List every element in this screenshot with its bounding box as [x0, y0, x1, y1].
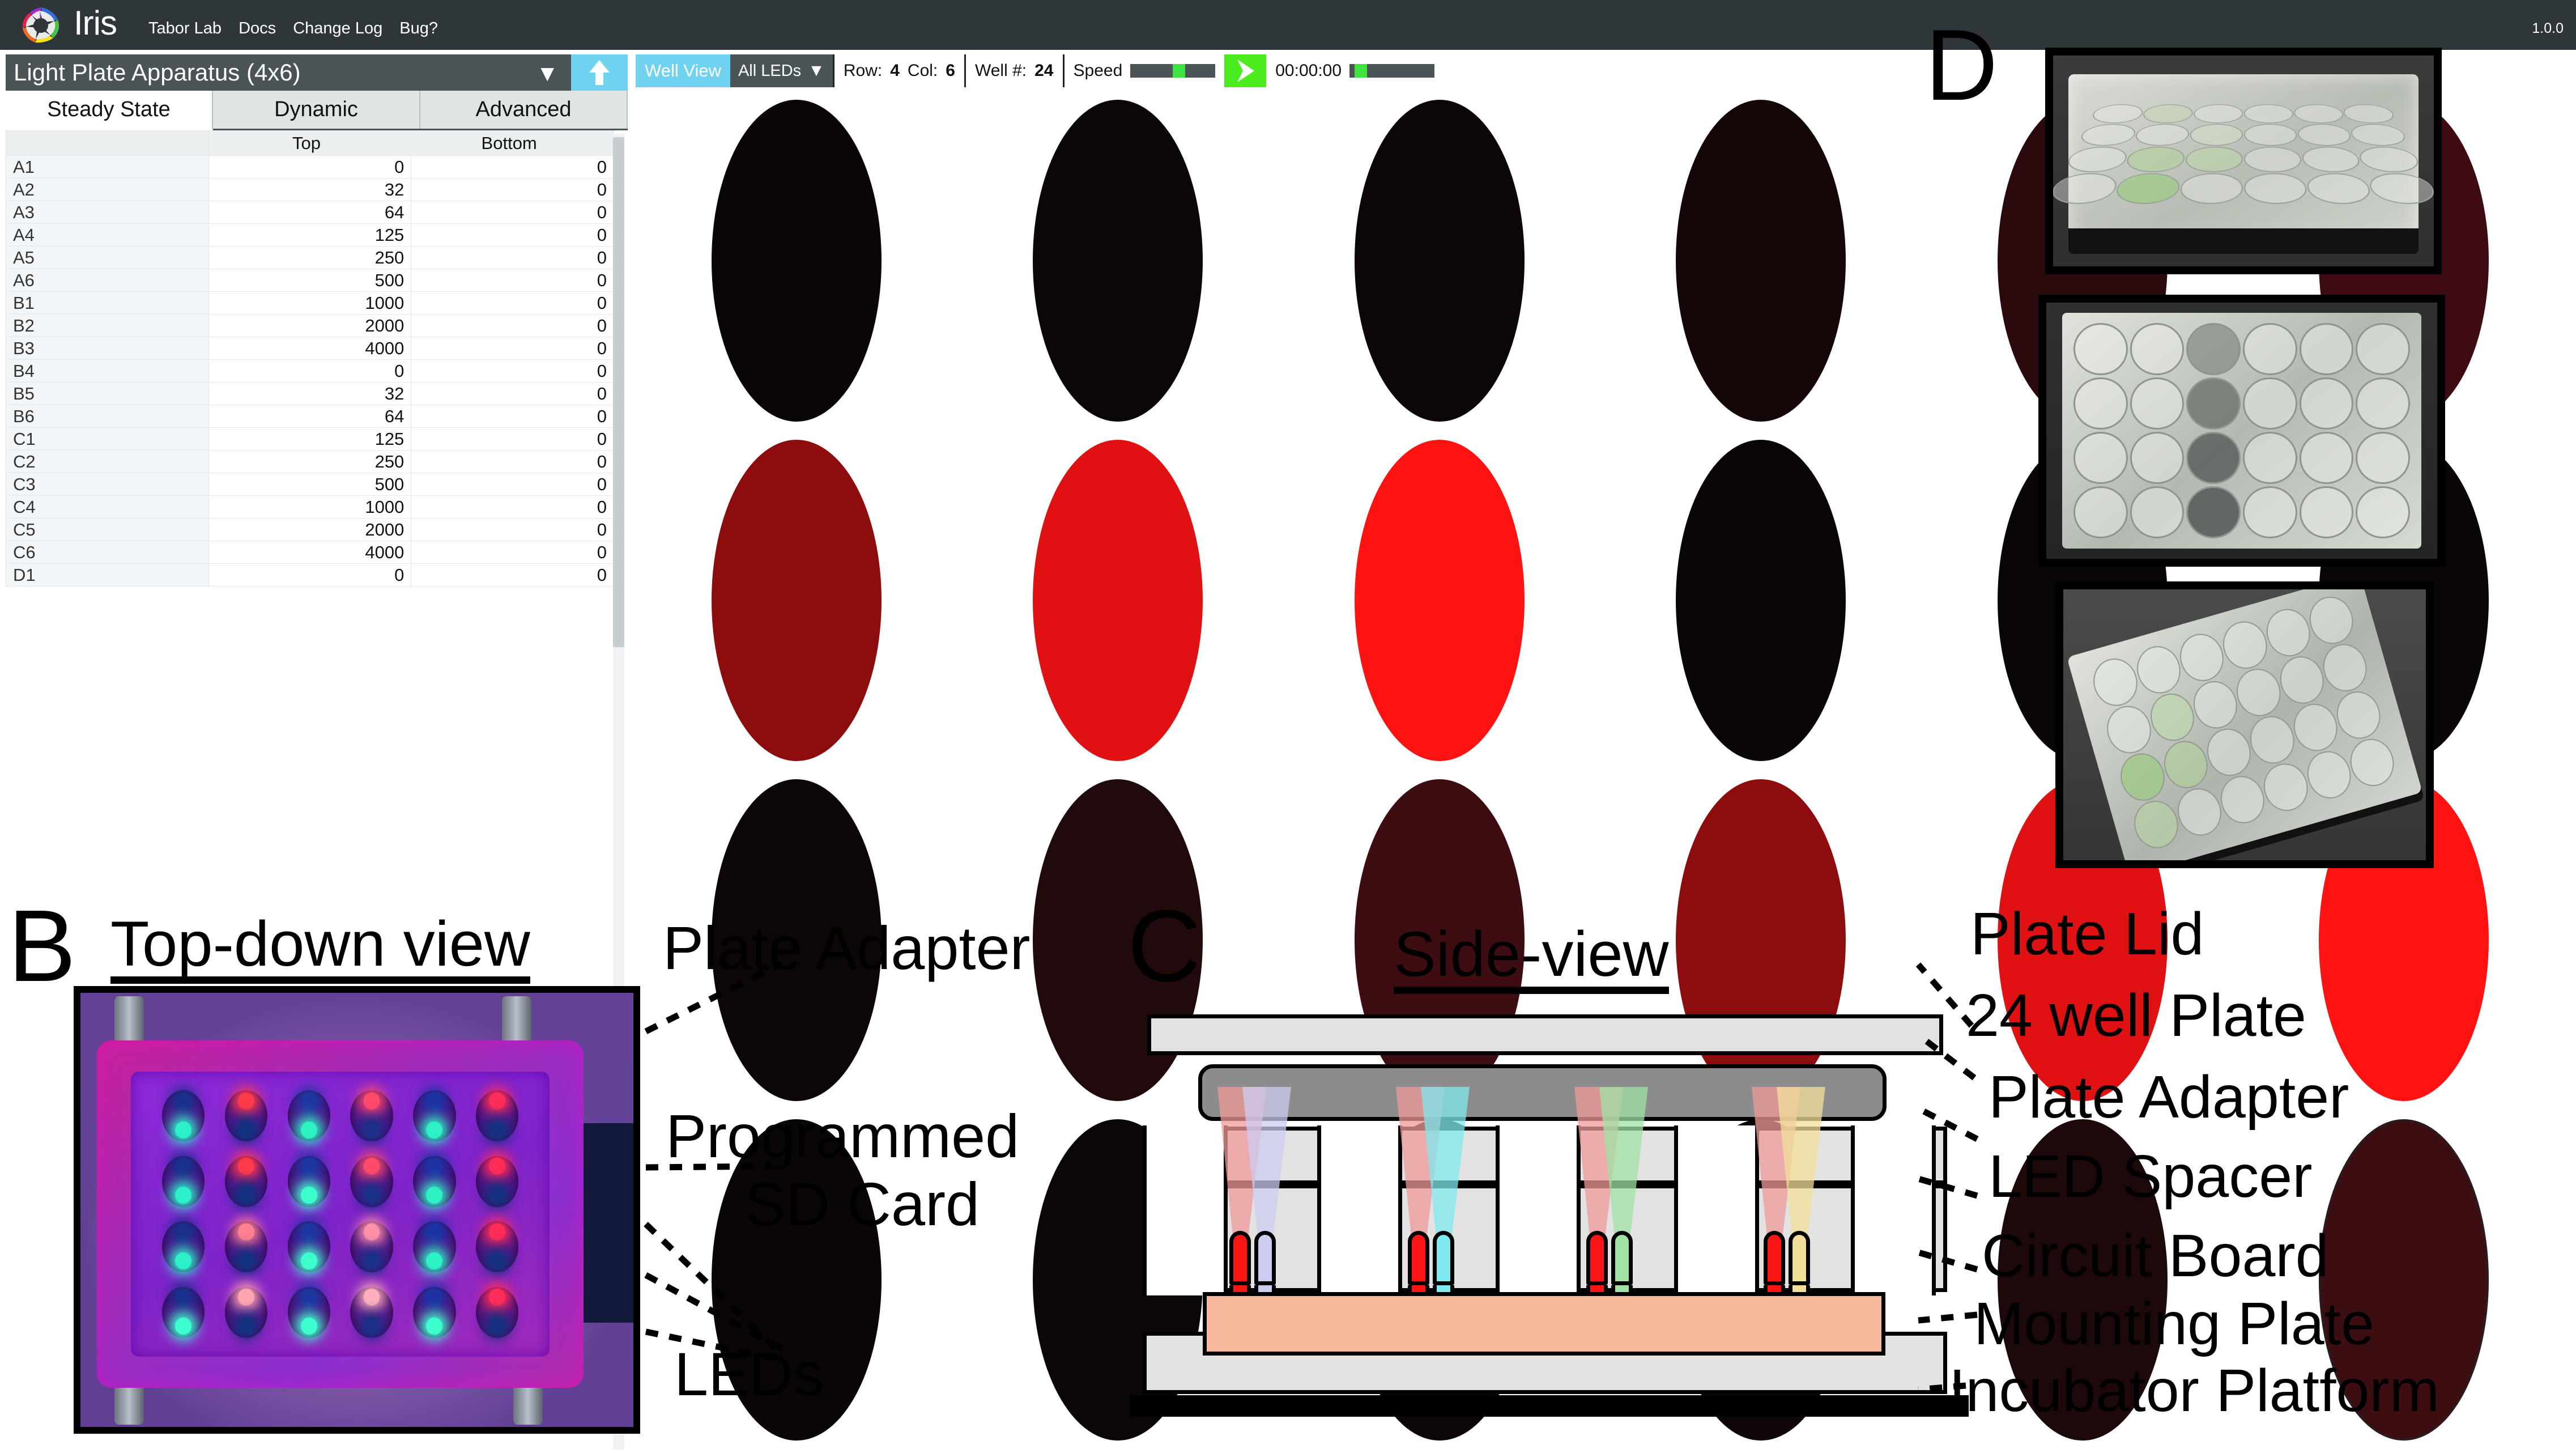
iris-aperture-icon [12, 7, 69, 44]
row-index: C5 [6, 519, 209, 541]
cell-top[interactable]: 2000 [208, 519, 411, 541]
well-view-title: Well View [636, 54, 730, 87]
well-label: Well #: [975, 61, 1027, 80]
cell-bottom[interactable]: 0 [411, 519, 614, 541]
adapter-wall [1674, 1125, 1759, 1295]
nav-item-tabor-lab[interactable]: Tabor Lab [148, 19, 222, 37]
well-values-table: Top Bottom A100A2320A3640A41250A52500A65… [6, 130, 614, 587]
cell-bottom[interactable]: 0 [411, 269, 614, 292]
adapter-wall [1496, 1125, 1581, 1295]
table-row[interactable]: A41250 [6, 224, 614, 247]
led-top [364, 1093, 380, 1110]
table-row[interactable]: A100 [6, 156, 614, 179]
nav-item-docs[interactable]: Docs [239, 19, 276, 37]
lpa-led-well [215, 1280, 278, 1345]
well-cell[interactable] [1279, 91, 1600, 431]
lpa-led-well [340, 1280, 403, 1345]
led-top [301, 1223, 317, 1240]
scrollbar-thumb[interactable] [613, 137, 624, 647]
lpa-led-well [403, 1280, 466, 1345]
tab-steady-state[interactable]: Steady State [6, 91, 213, 130]
led-top [426, 1223, 442, 1240]
cell-top[interactable]: 1000 [208, 292, 411, 315]
cell-bottom[interactable]: 0 [411, 405, 614, 428]
led-bulb [1229, 1231, 1251, 1285]
led-top [489, 1093, 505, 1110]
col-head-top: Top [208, 131, 411, 156]
well-plate-image [2053, 56, 2434, 266]
app-navbar: Iris Tabor Lab Docs Change Log Bug? 1.0.… [0, 0, 2576, 50]
led-bottom [175, 1187, 191, 1204]
lpa-led-well [215, 1149, 278, 1214]
panel-c-label-mounting-plate: Mounting Plate [1974, 1293, 2374, 1354]
speed-slider[interactable] [1130, 64, 1215, 78]
led-bottom [489, 1187, 505, 1204]
row-index: A5 [6, 247, 209, 269]
speed-slider-marker[interactable] [1173, 64, 1185, 78]
lpa-led-well [340, 1214, 403, 1280]
led-top [301, 1289, 317, 1306]
chevron-down-icon[interactable]: ▼ [536, 61, 559, 87]
lpa-led-well [278, 1214, 340, 1280]
well-a1[interactable] [712, 100, 882, 422]
row-index: B1 [6, 292, 209, 315]
panel-c-letter: C [1127, 895, 1201, 997]
time-slider[interactable] [1349, 64, 1434, 78]
led-bottom [175, 1252, 191, 1269]
cell-top[interactable]: 250 [208, 247, 411, 269]
cell-bottom[interactable]: 0 [411, 473, 614, 496]
adapter-wall [1317, 1125, 1402, 1295]
play-icon [1234, 58, 1257, 84]
elapsed-time: 00:00:00 [1275, 61, 1342, 80]
row-index: B5 [6, 383, 209, 405]
mounting-screw [114, 996, 144, 1047]
lpa-adapter-cavity [131, 1072, 550, 1356]
row-index: B4 [6, 360, 209, 383]
table-row[interactable]: B400 [6, 360, 614, 383]
row-index: A3 [6, 201, 209, 224]
cell-bottom[interactable]: 0 [411, 451, 614, 473]
lpa-led-grid [152, 1083, 529, 1345]
cell-bottom[interactable]: 0 [411, 360, 614, 383]
row-index: A1 [6, 156, 209, 179]
lpa-led-well [215, 1214, 278, 1280]
col-head-bottom: Bottom [411, 131, 614, 156]
speed-control[interactable]: Speed [1063, 54, 1225, 87]
cell-top[interactable]: 0 [208, 360, 411, 383]
tab-advanced[interactable]: Advanced [420, 91, 628, 129]
well-b4[interactable] [1676, 440, 1846, 762]
cell-top[interactable]: 125 [208, 428, 411, 451]
panel-c-label-plate-lid: Plate Lid [1970, 903, 2204, 965]
cell-top[interactable]: 250 [208, 451, 411, 473]
table-header-row: Top Bottom [6, 131, 614, 156]
diagram-24-well-plate [1198, 1064, 1887, 1121]
cell-bottom[interactable]: 0 [411, 337, 614, 360]
table-row[interactable]: C410000 [6, 496, 614, 519]
cell-bottom[interactable]: 0 [411, 247, 614, 269]
well-value: 24 [1034, 61, 1053, 80]
diagram-plate-lid [1147, 1014, 1943, 1055]
led-bottom [489, 1252, 505, 1269]
panel-b-label-programmed: Programmed [666, 1105, 1019, 1167]
panel-b-label-sd-card: SD Card [745, 1173, 980, 1235]
led-bottom [238, 1121, 254, 1138]
cell-bottom[interactable]: 0 [411, 315, 614, 337]
well-b1[interactable] [712, 440, 882, 762]
device-name: Light Plate Apparatus (4x6) [14, 59, 301, 86]
table-row[interactable]: A3640 [6, 201, 614, 224]
table-row[interactable]: A52500 [6, 247, 614, 269]
nav-item-bug[interactable]: Bug? [399, 19, 438, 37]
lpa-led-well [466, 1214, 529, 1280]
plate-photo-top-down [2038, 295, 2445, 567]
table-row[interactable]: C640000 [6, 541, 614, 564]
side-view-diagram [1130, 1014, 1969, 1411]
led-bulb [1764, 1231, 1785, 1285]
time-slider-marker[interactable] [1355, 64, 1367, 78]
led-top [489, 1223, 505, 1240]
row-index: C2 [6, 451, 209, 473]
row-index: B3 [6, 337, 209, 360]
diagram-circuit-board [1203, 1292, 1885, 1356]
led-bottom [489, 1121, 505, 1138]
cell-top[interactable]: 64 [208, 201, 411, 224]
lpa-led-well [152, 1149, 215, 1214]
row-index: A4 [6, 224, 209, 247]
top-down-photo [74, 986, 640, 1434]
cell-bottom[interactable]: 0 [411, 224, 614, 247]
led-bottom [238, 1252, 254, 1269]
panel-c-label-24-well-plate: 24 well Plate [1966, 985, 2306, 1046]
table-row[interactable]: B5320 [6, 383, 614, 405]
cell-bottom[interactable]: 0 [411, 541, 614, 564]
well-b3[interactable] [1355, 440, 1525, 762]
lpa-led-well [152, 1083, 215, 1149]
cell-top[interactable]: 125 [208, 224, 411, 247]
lpa-led-well [152, 1280, 215, 1345]
cell-top[interactable]: 500 [208, 473, 411, 496]
led-top [301, 1158, 317, 1175]
nav-item-change-log[interactable]: Change Log [293, 19, 382, 37]
led-bottom [301, 1252, 317, 1269]
well-count-readout: Well #: 24 [964, 54, 1063, 87]
panel-c-title: Side-view [1394, 923, 1669, 986]
row-value: 4 [890, 61, 900, 80]
led-top [364, 1223, 380, 1240]
led-top [238, 1158, 254, 1175]
cell-top[interactable]: 500 [208, 269, 411, 292]
led-top [238, 1093, 254, 1110]
well-a4[interactable] [1676, 100, 1846, 422]
led-bottom [238, 1318, 254, 1335]
table-row[interactable]: B110000 [6, 292, 614, 315]
led-bulb [1586, 1231, 1608, 1285]
led-select[interactable]: All LEDs ▼ [730, 54, 833, 87]
cell-top[interactable]: 64 [208, 405, 411, 428]
well-a3[interactable] [1355, 100, 1525, 422]
panel-d-letter: D [1925, 15, 1998, 116]
lpa-led-well [403, 1083, 466, 1149]
well-a2[interactable] [1033, 100, 1203, 422]
upload-arrow-icon [587, 59, 612, 86]
row-index: A6 [6, 269, 209, 292]
well-cell[interactable] [1600, 431, 1922, 771]
led-bottom [301, 1318, 317, 1335]
cell-bottom[interactable]: 0 [411, 201, 614, 224]
table-body: A100A2320A3640A41250A52500A65000B110000B… [6, 156, 614, 587]
led-bottom [238, 1187, 254, 1204]
row-index: D1 [6, 564, 209, 587]
lpa-led-well [340, 1083, 403, 1149]
row-index: B6 [6, 405, 209, 428]
cell-top[interactable]: 2000 [208, 315, 411, 337]
led-bottom [426, 1252, 442, 1269]
cell-top[interactable]: 4000 [208, 337, 411, 360]
panel-b-label-leds: LEDs [674, 1343, 824, 1405]
row-index: A2 [6, 179, 209, 201]
led-bottom [364, 1121, 380, 1138]
cell-top[interactable]: 0 [208, 564, 411, 587]
lpa-led-well [278, 1280, 340, 1345]
row-label: Row: [844, 61, 882, 80]
table-row[interactable]: D100 [6, 564, 614, 587]
well-cell[interactable] [636, 431, 957, 771]
cell-bottom[interactable]: 0 [411, 564, 614, 587]
cell-bottom[interactable]: 0 [411, 179, 614, 201]
diagram-incubator-platform [1130, 1395, 1969, 1417]
lpa-led-well [466, 1083, 529, 1149]
adapter-wall [1143, 1125, 1228, 1295]
cell-top[interactable]: 4000 [208, 541, 411, 564]
lpa-led-well [466, 1149, 529, 1214]
cell-top[interactable]: 32 [208, 179, 411, 201]
well-cell[interactable] [636, 91, 957, 431]
led-select-value: All LEDs [738, 62, 801, 80]
row-index: C4 [6, 496, 209, 519]
well-plate-image [2046, 303, 2437, 559]
table-row[interactable]: B220000 [6, 315, 614, 337]
lpa-led-well [340, 1149, 403, 1214]
led-top [238, 1223, 254, 1240]
lpa-led-well [403, 1149, 466, 1214]
panel-b-letter: B [8, 895, 76, 997]
led-bulb [1789, 1231, 1810, 1285]
led-top [175, 1223, 191, 1240]
upload-button[interactable] [571, 54, 628, 91]
panel-c-label-led-spacer: LED Spacer [1989, 1146, 2313, 1207]
timeline-control[interactable]: 00:00:00 [1266, 54, 1440, 87]
well-b2[interactable] [1033, 440, 1203, 762]
cell-bottom[interactable]: 0 [411, 383, 614, 405]
app-nav-links: Tabor Lab Docs Change Log Bug? [148, 19, 450, 38]
led-bottom [426, 1121, 442, 1138]
led-top [426, 1093, 442, 1110]
lpa-led-well [278, 1083, 340, 1149]
tab-dynamic[interactable]: Dynamic [213, 91, 420, 129]
table-row[interactable]: C35000 [6, 473, 614, 496]
row-index: C6 [6, 541, 209, 564]
speed-label: Speed [1074, 61, 1123, 80]
table-row[interactable]: B6640 [6, 405, 614, 428]
led-bulb [1433, 1231, 1454, 1285]
lpa-led-well [466, 1280, 529, 1345]
plate-photo-perspective [2055, 581, 2434, 868]
lpa-led-well [403, 1214, 466, 1280]
cell-bottom[interactable]: 0 [411, 292, 614, 315]
led-bulb [1611, 1231, 1633, 1285]
well-plate-image [2063, 589, 2426, 860]
led-bulb [1408, 1231, 1429, 1285]
led-bottom [364, 1252, 380, 1269]
col-head-index [6, 131, 209, 156]
cell-bottom[interactable]: 0 [411, 496, 614, 519]
table-row[interactable]: C520000 [6, 519, 614, 541]
led-bulb [1254, 1231, 1276, 1285]
cell-top[interactable]: 1000 [208, 496, 411, 519]
app-brand: Iris [74, 3, 117, 43]
lpa-led-well [215, 1083, 278, 1149]
led-bottom [175, 1121, 191, 1138]
row-index: B2 [6, 315, 209, 337]
cell-top[interactable]: 32 [208, 383, 411, 405]
cell-top[interactable]: 0 [208, 156, 411, 179]
chevron-down-icon[interactable]: ▼ [808, 61, 825, 80]
row-index: C1 [6, 428, 209, 451]
col-value: 6 [946, 61, 955, 80]
cell-bottom[interactable]: 0 [411, 428, 614, 451]
lpa-led-well [152, 1214, 215, 1280]
table-row[interactable]: C11250 [6, 428, 614, 451]
cell-bottom[interactable]: 0 [411, 156, 614, 179]
panel-c-label-circuit-board: Circuit Board [1982, 1225, 2329, 1286]
well-cell[interactable] [957, 91, 1279, 431]
panel-b-label-plate-adapter: Plate Adapter [663, 917, 1030, 979]
well-cell[interactable] [1600, 91, 1922, 431]
led-top [175, 1093, 191, 1110]
table-row[interactable]: C22500 [6, 451, 614, 473]
table-row[interactable]: B340000 [6, 337, 614, 360]
well-cell[interactable] [1279, 431, 1600, 771]
panel-b-title: Top-down view [110, 912, 530, 976]
editor-tabs: Steady State Dynamic Advanced [6, 91, 628, 130]
app-version: 1.0.0 [2532, 20, 2564, 37]
led-top [301, 1093, 317, 1110]
row-index: C3 [6, 473, 209, 496]
device-selector[interactable]: Light Plate Apparatus (4x6) ▼ [6, 54, 628, 91]
row-col-readout: Row: 4 Col: 6 [833, 54, 964, 87]
well-cell[interactable] [957, 431, 1279, 771]
play-button[interactable] [1224, 54, 1266, 87]
plate-photo-side-angle [2045, 48, 2442, 274]
led-bottom [301, 1187, 317, 1204]
panel-c-label-plate-adapter: Plate Adapter [1989, 1067, 2349, 1128]
led-bottom [301, 1121, 317, 1138]
lpa-led-well [278, 1149, 340, 1214]
table-row[interactable]: A2320 [6, 179, 614, 201]
table-row[interactable]: A65000 [6, 269, 614, 292]
lpa-adapter-body [97, 1040, 584, 1388]
col-label: Col: [908, 61, 938, 80]
mounting-screw [502, 996, 531, 1047]
panel-c-label-incubator-platform: Incubator Platform [1949, 1360, 2439, 1421]
